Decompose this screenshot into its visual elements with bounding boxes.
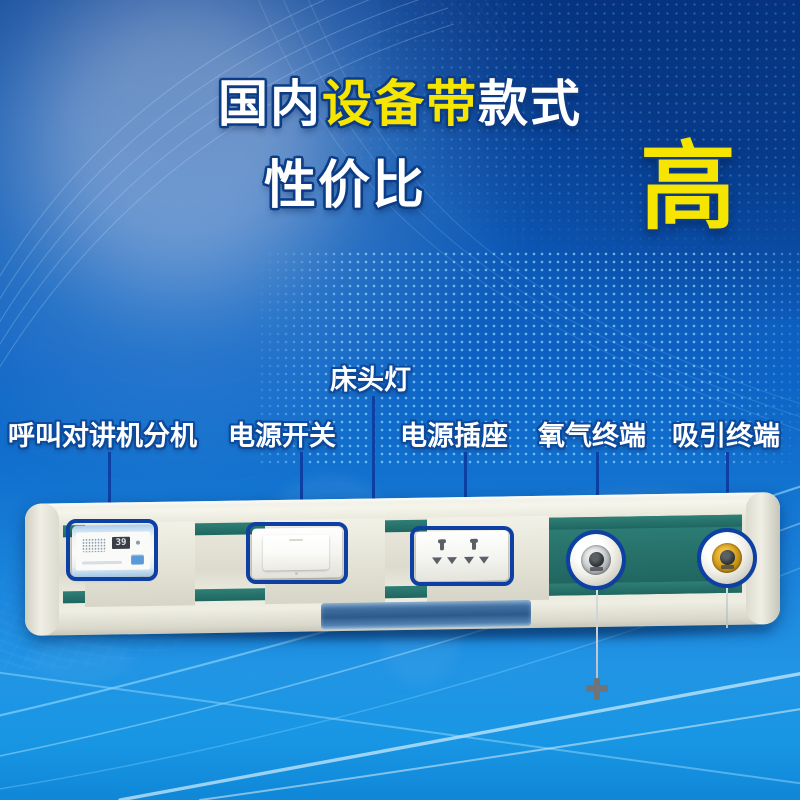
highlight-circle-suction xyxy=(697,528,757,588)
highlight-box-intercom xyxy=(66,519,158,581)
callout-label-intercom: 呼叫对讲机分机 xyxy=(8,414,197,453)
callout-label-power-outlet: 电源插座 xyxy=(400,414,508,453)
callout-label-bedside-lamp: 床头灯 xyxy=(330,358,411,397)
oxygen-hanging-cord xyxy=(596,588,598,684)
promo-banner: 国内设备带款式 性价比 高 呼叫对讲机分机 电源开关 床头灯 电源插座 氧气终端… xyxy=(0,0,800,800)
bedside-lamp-diffuser xyxy=(321,600,531,629)
highlight-circle-oxygen xyxy=(566,530,626,590)
highlight-box-power-switch xyxy=(246,522,348,584)
headline-emphasis: 高 xyxy=(640,140,736,236)
cord-hook-icon xyxy=(586,678,608,700)
suction-hanging-cord xyxy=(726,586,728,628)
callout-label-oxygen-terminal: 氧气终端 xyxy=(538,414,646,453)
panel-end-cap-left xyxy=(25,503,59,636)
callout-label-power-switch: 电源开关 xyxy=(228,414,336,453)
highlight-box-power-outlet xyxy=(410,526,514,586)
callout-label-suction-terminal: 吸引终端 xyxy=(672,414,780,453)
